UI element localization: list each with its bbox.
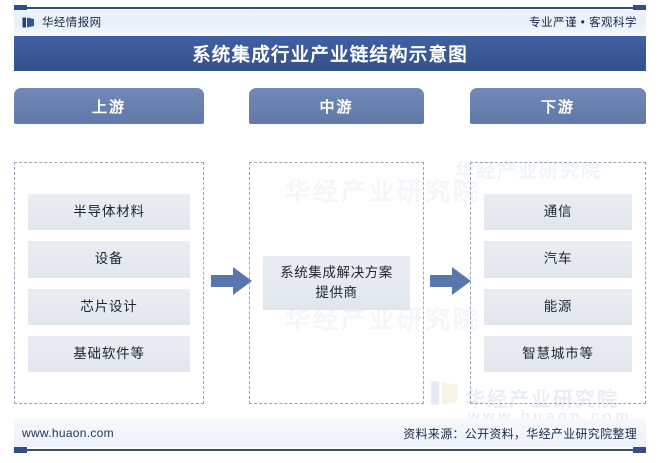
column-body-downstream: 通信 汽车 能源 智慧城市等	[470, 162, 646, 404]
chain-item: 能源	[484, 289, 632, 325]
column-body-midstream: 系统集成解决方案提供商	[249, 162, 424, 404]
page-footer: www.huaon.com 资料来源：公开资料，华经产业研究院整理	[14, 419, 646, 447]
column-upstream: 上游 半导体材料 设备 芯片设计 基础软件等	[14, 88, 204, 124]
chain-item: 芯片设计	[28, 289, 190, 325]
column-header-midstream: 中游	[249, 88, 424, 124]
infographic-page: 华经情报网 专业严谨 • 客观科学 系统集成行业产业链结构示意图 华经产业研究院…	[0, 0, 660, 463]
rule-cap-left	[14, 447, 27, 453]
column-header-label: 中游	[319, 96, 353, 117]
title-bar: 系统集成行业产业链结构示意图	[14, 36, 646, 71]
column-downstream: 下游 通信 汽车 能源 智慧城市等	[470, 88, 646, 124]
column-header-label: 上游	[92, 96, 126, 117]
chain-item: 通信	[484, 194, 632, 230]
right-arrow-icon	[430, 266, 472, 296]
column-midstream: 中游 系统集成解决方案提供商	[249, 88, 424, 124]
chain-item: 系统集成解决方案提供商	[263, 256, 410, 309]
chain-item: 半导体材料	[28, 194, 190, 230]
column-header-label: 下游	[541, 96, 575, 117]
brand-name: 华经情报网	[42, 14, 102, 30]
header-tagline: 专业严谨 • 客观科学	[529, 14, 637, 30]
top-divider-rule	[14, 7, 646, 9]
footer-site-url[interactable]: www.huaon.com	[22, 426, 114, 440]
page-header: 华经情报网 专业严谨 • 客观科学	[14, 10, 646, 34]
chain-item: 基础软件等	[28, 336, 190, 372]
chain-item: 智慧城市等	[484, 336, 632, 372]
column-header-downstream: 下游	[470, 88, 646, 124]
rule-cap-right	[633, 447, 646, 453]
chain-item: 汽车	[484, 241, 632, 277]
page-title: 系统集成行业产业链结构示意图	[192, 41, 468, 67]
bottom-divider-rule	[14, 449, 646, 451]
supply-chain-diagram: 上游 半导体材料 设备 芯片设计 基础软件等 中游 系统集成解决方案提供商	[14, 88, 646, 413]
column-header-upstream: 上游	[14, 88, 204, 124]
huaon-flag-logo-icon	[22, 16, 35, 29]
brand-block: 华经情报网	[22, 14, 102, 30]
footer-source-note: 资料来源：公开资料，华经产业研究院整理	[403, 425, 637, 442]
chain-item: 设备	[28, 241, 190, 277]
right-arrow-icon	[211, 266, 253, 296]
column-body-upstream: 半导体材料 设备 芯片设计 基础软件等	[14, 162, 204, 404]
